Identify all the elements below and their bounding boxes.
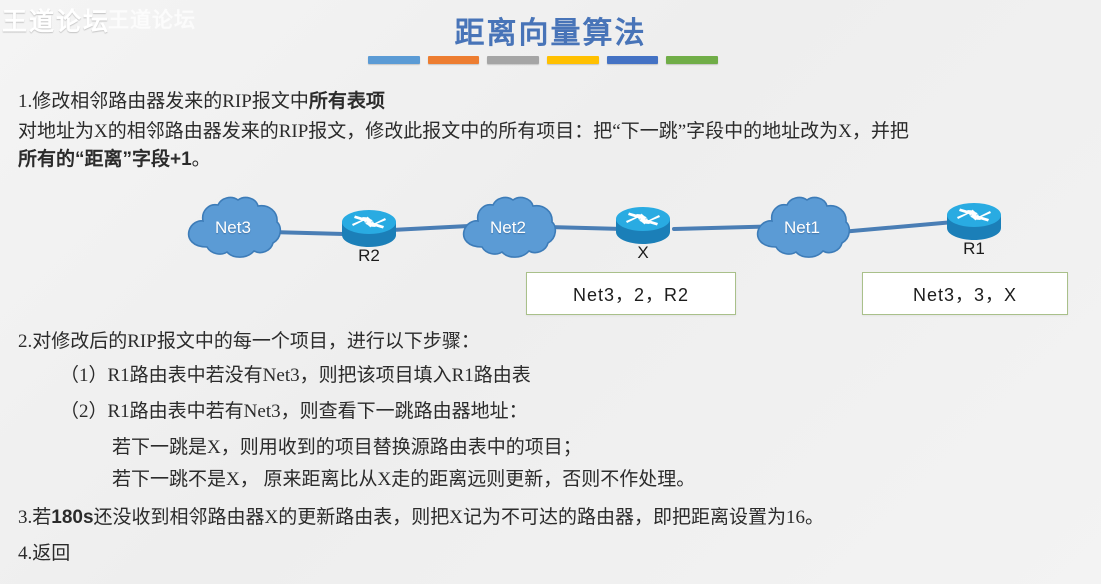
rule-bar-1 [368,56,420,64]
cloud-net1[interactable]: Net1 [752,195,852,261]
link-net1-r1 [840,220,952,234]
rule-bar-2 [428,56,480,64]
rule-bar-3 [487,56,539,64]
cloud-net2[interactable]: Net2 [458,195,558,261]
step-1-heading: 1.修改相邻路由器发来的RIP报文中所有表项 [18,86,385,113]
step-2-item-2-sub-1: 若下一跳是X，则用收到的项目替换源路由表中的项目； [112,432,582,459]
step-1-detail-line-1: 对地址为X的相邻路由器发来的RIP报文，修改此报文中的所有项目：把“下一跳”字段… [18,116,909,143]
step-3-suffix: 还没收到相邻路由器X的更新路由表，则把X记为不可达的路由器，即把距离设置为16。 [94,507,824,528]
router-r1-label: R1 [935,239,1013,259]
router-icon [340,208,398,248]
step-3: 3.若180s还没收到相邻路由器X的更新路由表，则把X记为不可达的路由器，即把距… [18,502,824,529]
router-icon [614,205,672,245]
step-3-timer-value: 180s [51,507,93,528]
rule-bar-5 [607,56,659,64]
rip-entry-box-x: Net3，3，X [862,272,1068,315]
step-1-emphasis: 所有表项 [309,91,385,112]
step-2-heading: 2.对修改后的RIP报文中的每一个项目，进行以下步骤： [18,326,480,353]
router-icon [945,201,1003,241]
step-2-item-2-sub-2: 若下一跳不是X， 原来距离比从X走的距离远则更新，否则不作处理。 [112,464,695,491]
router-r1[interactable]: R1 [945,201,1003,241]
cloud-shape-icon [752,195,852,261]
step-2-item-2: （2）R1路由表中若有Net3，则查看下一跳路由器地址： [60,396,528,423]
step-1-detail-line-2: 所有的“距离”字段+1。 [18,144,211,171]
cloud-net3[interactable]: Net3 [183,195,283,261]
router-x[interactable]: X [614,205,672,245]
title-rule-bars [368,56,718,64]
step-2-item-1: （1）R1路由表中若没有Net3，则把该项目填入R1路由表 [60,360,531,387]
rule-bar-4 [547,56,599,64]
rip-entry-box-r2: Net3，2，R2 [526,272,736,315]
step-1-prefix: 1.修改相邻路由器发来的RIP报文中 [18,91,309,112]
router-r2-label: R2 [330,246,408,266]
step-1-detail-suffix: 。 [192,149,211,170]
network-topology-diagram: Net3 R2 Net2 [0,180,1101,320]
step-4: 4.返回 [18,538,70,565]
slide-title: 距离向量算法 [0,8,1101,52]
step-3-prefix: 3.若 [18,507,51,528]
cloud-shape-icon [458,195,558,261]
slide-canvas: 王道论坛 王道论坛 距离向量算法 1.修改相邻路由器发来的RIP报文中所有表项 … [0,0,1101,584]
rule-bar-6 [666,56,718,64]
router-x-label: X [604,243,682,263]
step-1-detail-emphasis: 所有的“距离”字段+1 [18,149,192,170]
router-r2[interactable]: R2 [340,208,398,248]
cloud-shape-icon [183,195,283,261]
